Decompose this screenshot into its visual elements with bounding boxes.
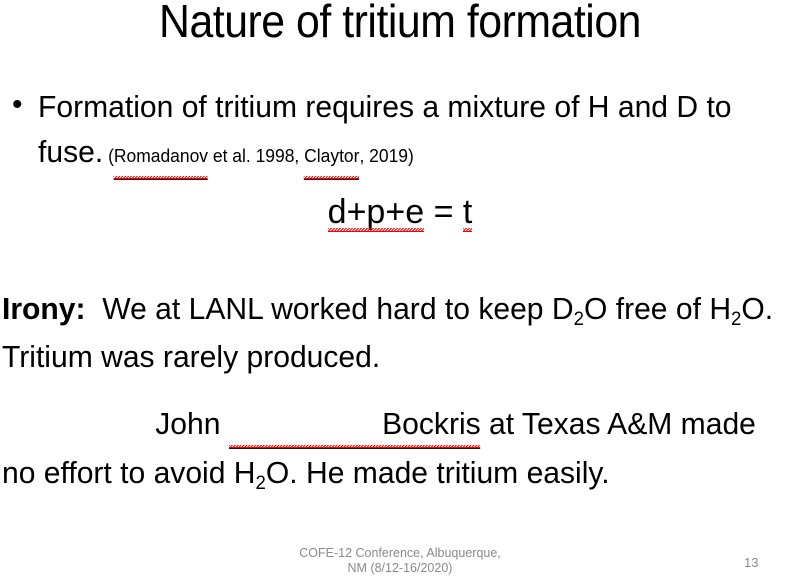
irony-text-part-b: O free of H — [584, 291, 731, 326]
subscript-h2o-second: 2 — [256, 473, 266, 494]
subscript-d2o: 2 — [574, 309, 584, 330]
bockris-paragraph: John Bockris at Texas A&M made no effort… — [2, 400, 774, 497]
citation: (Romadanov et al. 1998, Claytor, 2019) — [103, 146, 414, 166]
page-number: 13 — [744, 555, 758, 570]
list-item: • Formation of tritium requires a mixtur… — [8, 84, 792, 180]
bullet-marker-icon: • — [8, 84, 38, 126]
irony-text-part-a: We at LANL worked hard to keep D — [102, 291, 573, 326]
page-title: Nature of tritium formation — [28, 0, 772, 46]
citation-middle-text: et al. 1998, — [208, 146, 304, 166]
irony-label: Irony: — [2, 291, 86, 326]
irony-paragraph: Irony: We at LANL worked hard to keep D2… — [2, 285, 774, 381]
name-bockris: Bockris — [229, 400, 481, 449]
footer-line-1: COFE-12 Conference, Albuquerque, — [0, 546, 800, 561]
slide-footer: COFE-12 Conference, Albuquerque, NM (8/1… — [0, 546, 800, 576]
footer-line-2: NM (8/12-16/2020) — [0, 561, 800, 576]
bullet-list: • Formation of tritium requires a mixtur… — [8, 84, 792, 180]
paragraph-text-part-a: John — [155, 406, 229, 441]
citation-close-text: , 2019) — [359, 146, 413, 166]
equation-operator: = — [424, 193, 463, 231]
paragraph-text-part-c: O. He made tritium easily. — [266, 455, 610, 490]
citation-author-romadanov: Romadanov — [114, 134, 208, 180]
bullet-item-text: Formation of tritium requires a mixture … — [38, 84, 769, 180]
equation-right-side: t — [463, 191, 472, 233]
equation-left-side: d+p+e — [328, 191, 424, 233]
subscript-h2o-first: 2 — [731, 309, 741, 330]
citation-author-claytor: Claytor — [304, 134, 359, 180]
equation-line: d+p+e = t — [0, 191, 800, 233]
slide-canvas: Nature of tritium formation • Formation … — [0, 0, 800, 576]
